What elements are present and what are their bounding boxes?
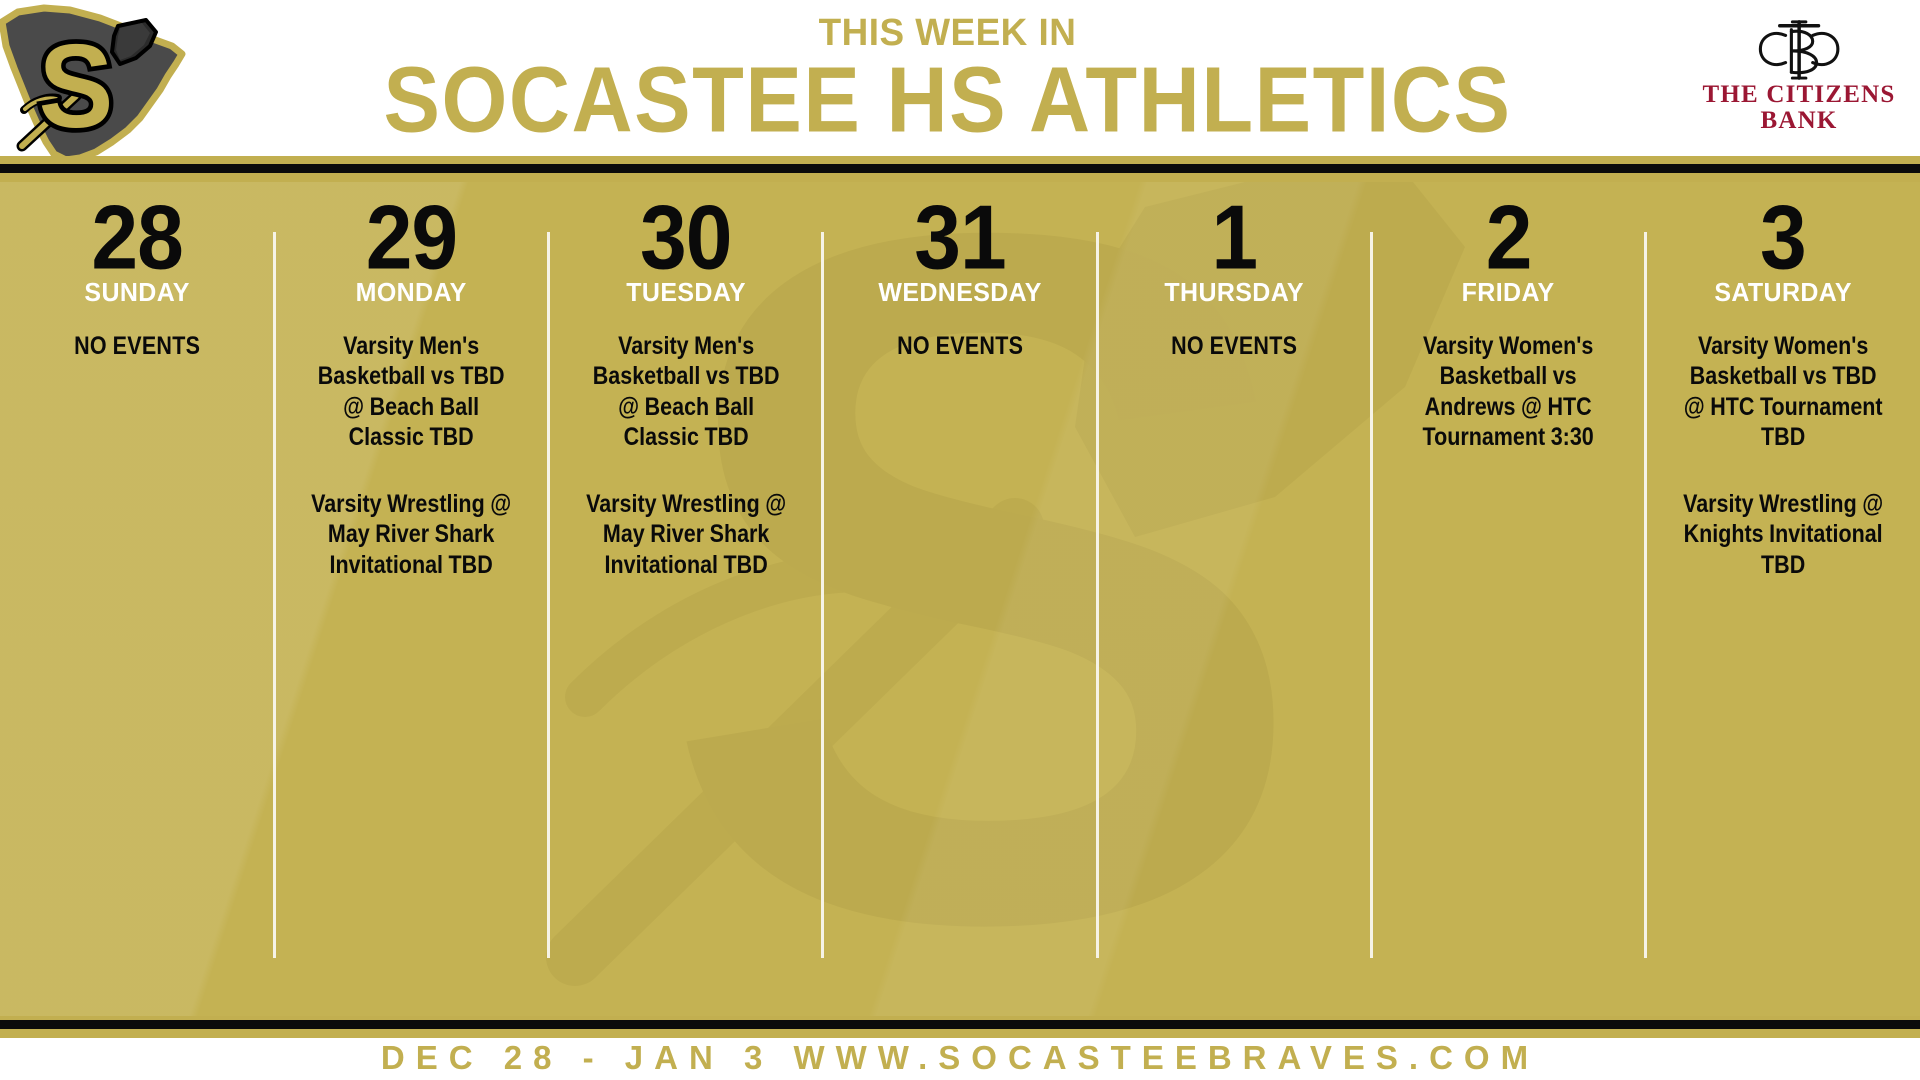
socastee-braves-state-logo-icon: S: [0, 2, 215, 170]
day-column: 2FRIDAYVarsity Women's Basketball vs And…: [1371, 182, 1645, 1016]
day-header: 3SATURDAY: [1660, 206, 1906, 305]
day-events-list: Varsity Women's Basketball vs Andrews @ …: [1385, 331, 1631, 453]
day-name: WEDNESDAY: [842, 279, 1078, 305]
day-header: 1THURSDAY: [1111, 206, 1357, 305]
day-header: 31WEDNESDAY: [837, 206, 1083, 305]
day-number: 31: [837, 200, 1083, 274]
day-number: 1: [1111, 200, 1357, 274]
day-number: 2: [1385, 200, 1631, 274]
event-item: Varsity Wrestling @ May River Shark Invi…: [306, 489, 518, 581]
page-title: SOCASTEE HS ATHLETICS: [200, 54, 1694, 145]
header-black-rule: [0, 164, 1920, 173]
day-header: 28SUNDAY: [14, 206, 260, 305]
day-header: 2FRIDAY: [1385, 206, 1631, 305]
footer-gold-rule-bottom: [0, 1029, 1920, 1038]
event-item: Varsity Women's Basketball vs TBD @ HTC …: [1677, 331, 1889, 453]
day-column: 29MONDAYVarsity Men's Basketball vs TBD …: [274, 182, 548, 1016]
day-number: 28: [14, 200, 260, 274]
day-events-list: NO EVENTS: [837, 331, 1083, 362]
day-name: FRIDAY: [1390, 279, 1626, 305]
header-title-block: THIS WEEK IN SOCASTEE HS ATHLETICS: [215, 14, 1680, 154]
no-events-label: NO EVENTS: [1128, 331, 1340, 362]
header-gold-rule-top: [0, 156, 1920, 164]
weekly-athletics-schedule-poster: S THIS WEEK IN SOCASTEE HS ATHLETICS: [0, 0, 1920, 1080]
day-header: 29MONDAY: [288, 206, 534, 305]
footer-text: DEC 28 - JAN 3 WWW.SOCASTEEBRAVES.COM: [381, 1039, 1539, 1077]
day-events-list: NO EVENTS: [14, 331, 260, 362]
day-name: MONDAY: [293, 279, 529, 305]
header-gold-rule-bottom: [0, 173, 1920, 182]
day-name: SATURDAY: [1665, 279, 1901, 305]
day-events-list: Varsity Women's Basketball vs TBD @ HTC …: [1660, 331, 1906, 581]
day-events-list: Varsity Men's Basketball vs TBD @ Beach …: [288, 331, 534, 581]
footer-black-rule: [0, 1020, 1920, 1029]
day-column: 30TUESDAYVarsity Men's Basketball vs TBD…: [549, 182, 823, 1016]
day-name: TUESDAY: [567, 279, 803, 305]
day-name: THURSDAY: [1116, 279, 1352, 305]
day-column: 31WEDNESDAYNO EVENTS: [823, 182, 1097, 1016]
week-grid-body: S 28SUNDAYNO EVENTS29MONDAYVarsity Men's…: [0, 182, 1920, 1016]
citizens-bank-monogram-icon: [1741, 18, 1857, 80]
no-events-label: NO EVENTS: [31, 331, 243, 362]
event-item: Varsity Men's Basketball vs TBD @ Beach …: [306, 331, 518, 453]
event-item: Varsity Women's Basketball vs Andrews @ …: [1403, 331, 1615, 453]
event-item: Varsity Men's Basketball vs TBD @ Beach …: [580, 331, 792, 453]
day-events-list: NO EVENTS: [1111, 331, 1357, 362]
day-column: 3SATURDAYVarsity Women's Basketball vs T…: [1646, 182, 1920, 1016]
svg-text:S: S: [39, 21, 114, 153]
day-header: 30TUESDAY: [563, 206, 809, 305]
day-column: 28SUNDAYNO EVENTS: [0, 182, 274, 1016]
week-columns: 28SUNDAYNO EVENTS29MONDAYVarsity Men's B…: [0, 182, 1920, 1016]
no-events-label: NO EVENTS: [854, 331, 1066, 362]
day-events-list: Varsity Men's Basketball vs TBD @ Beach …: [563, 331, 809, 581]
day-number: 29: [288, 200, 534, 274]
sponsor-name-line1: THE CITIZENS: [1686, 82, 1912, 108]
poster-footer: DEC 28 - JAN 3 WWW.SOCASTEEBRAVES.COM: [0, 1038, 1920, 1080]
event-item: Varsity Wrestling @ May River Shark Invi…: [580, 489, 792, 581]
sponsor-logo: THE CITIZENS BANK: [1686, 18, 1912, 146]
sponsor-name-line2: BANK: [1686, 108, 1912, 134]
day-name: SUNDAY: [19, 279, 255, 305]
day-number: 30: [563, 200, 809, 274]
event-item: Varsity Wrestling @ Knights Invitational…: [1677, 489, 1889, 581]
day-number: 3: [1660, 200, 1906, 274]
day-column: 1THURSDAYNO EVENTS: [1097, 182, 1371, 1016]
